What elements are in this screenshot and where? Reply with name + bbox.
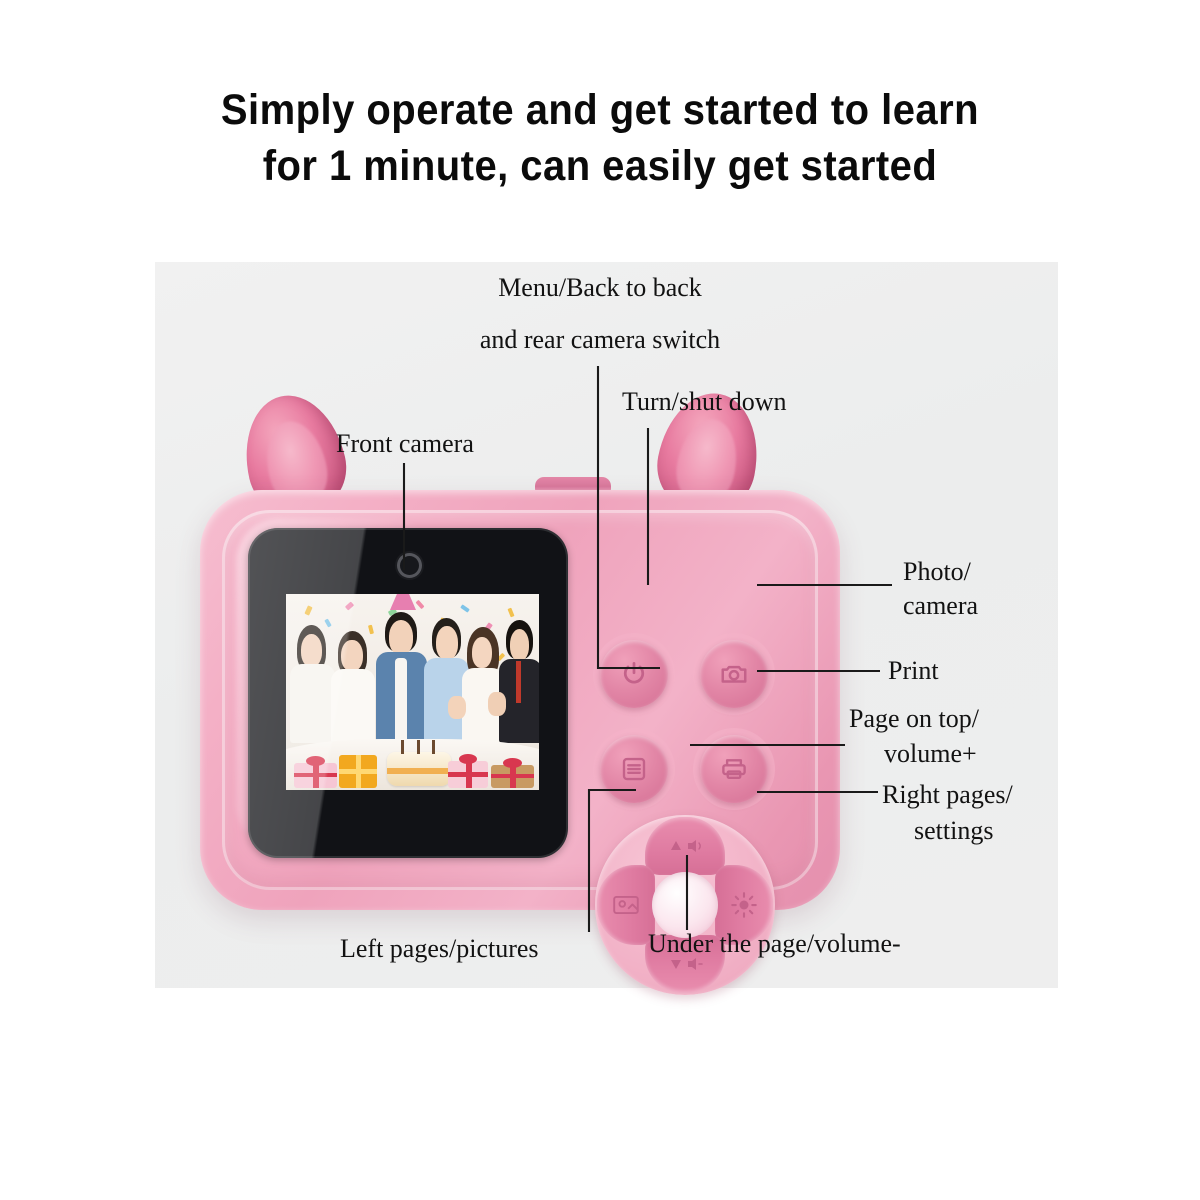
annotation-front-camera: Front camera bbox=[336, 428, 474, 460]
annotation-left-pages: Left pages/pictures bbox=[340, 933, 539, 965]
annotation-right-pages-line1: Right pages/ bbox=[882, 779, 1013, 811]
camera-body bbox=[200, 490, 840, 910]
dpad-control bbox=[595, 815, 775, 995]
power-button[interactable] bbox=[600, 640, 668, 708]
gallery-photo-icon bbox=[611, 893, 641, 917]
camera-product-illustration bbox=[190, 395, 850, 925]
camera-button[interactable] bbox=[700, 640, 768, 708]
menu-button[interactable] bbox=[600, 735, 668, 803]
page-title-line2: for 1 minute, can easily get started bbox=[42, 138, 1158, 194]
front-camera-lens bbox=[400, 556, 419, 575]
camera-icon bbox=[719, 659, 749, 689]
page-title: Simply operate and get started to learn … bbox=[42, 82, 1158, 194]
annotation-menu-back-line2: and rear camera switch bbox=[370, 324, 830, 356]
annotation-page-top-line1: Page on top/ bbox=[849, 703, 979, 735]
printer-icon bbox=[719, 754, 749, 784]
annotation-print: Print bbox=[888, 655, 939, 687]
power-icon bbox=[619, 659, 649, 689]
menu-lines-icon bbox=[619, 754, 649, 784]
screen-bezel bbox=[248, 528, 568, 858]
dpad-up-button[interactable] bbox=[645, 817, 725, 875]
annotation-photo-camera-line2: camera bbox=[903, 590, 978, 622]
page-title-line1: Simply operate and get started to learn bbox=[221, 86, 979, 134]
annotation-turn-shut-down: Turn/shut down bbox=[622, 386, 786, 418]
annotation-photo-camera-line1: Photo/ bbox=[903, 556, 971, 588]
annotation-under-page: Under the page/volume- bbox=[648, 928, 901, 960]
sun-brightness-icon bbox=[729, 890, 759, 920]
annotation-page-top-line2: volume+ bbox=[884, 738, 977, 770]
annotation-menu-back-line1: Menu/Back to back bbox=[370, 272, 830, 304]
dpad-left-button[interactable] bbox=[597, 865, 655, 945]
annotation-right-pages-line2: settings bbox=[914, 815, 993, 847]
screen-glass-reflection bbox=[248, 528, 490, 858]
triangle-up-volume-up-icon bbox=[663, 838, 707, 854]
print-button[interactable] bbox=[700, 735, 768, 803]
